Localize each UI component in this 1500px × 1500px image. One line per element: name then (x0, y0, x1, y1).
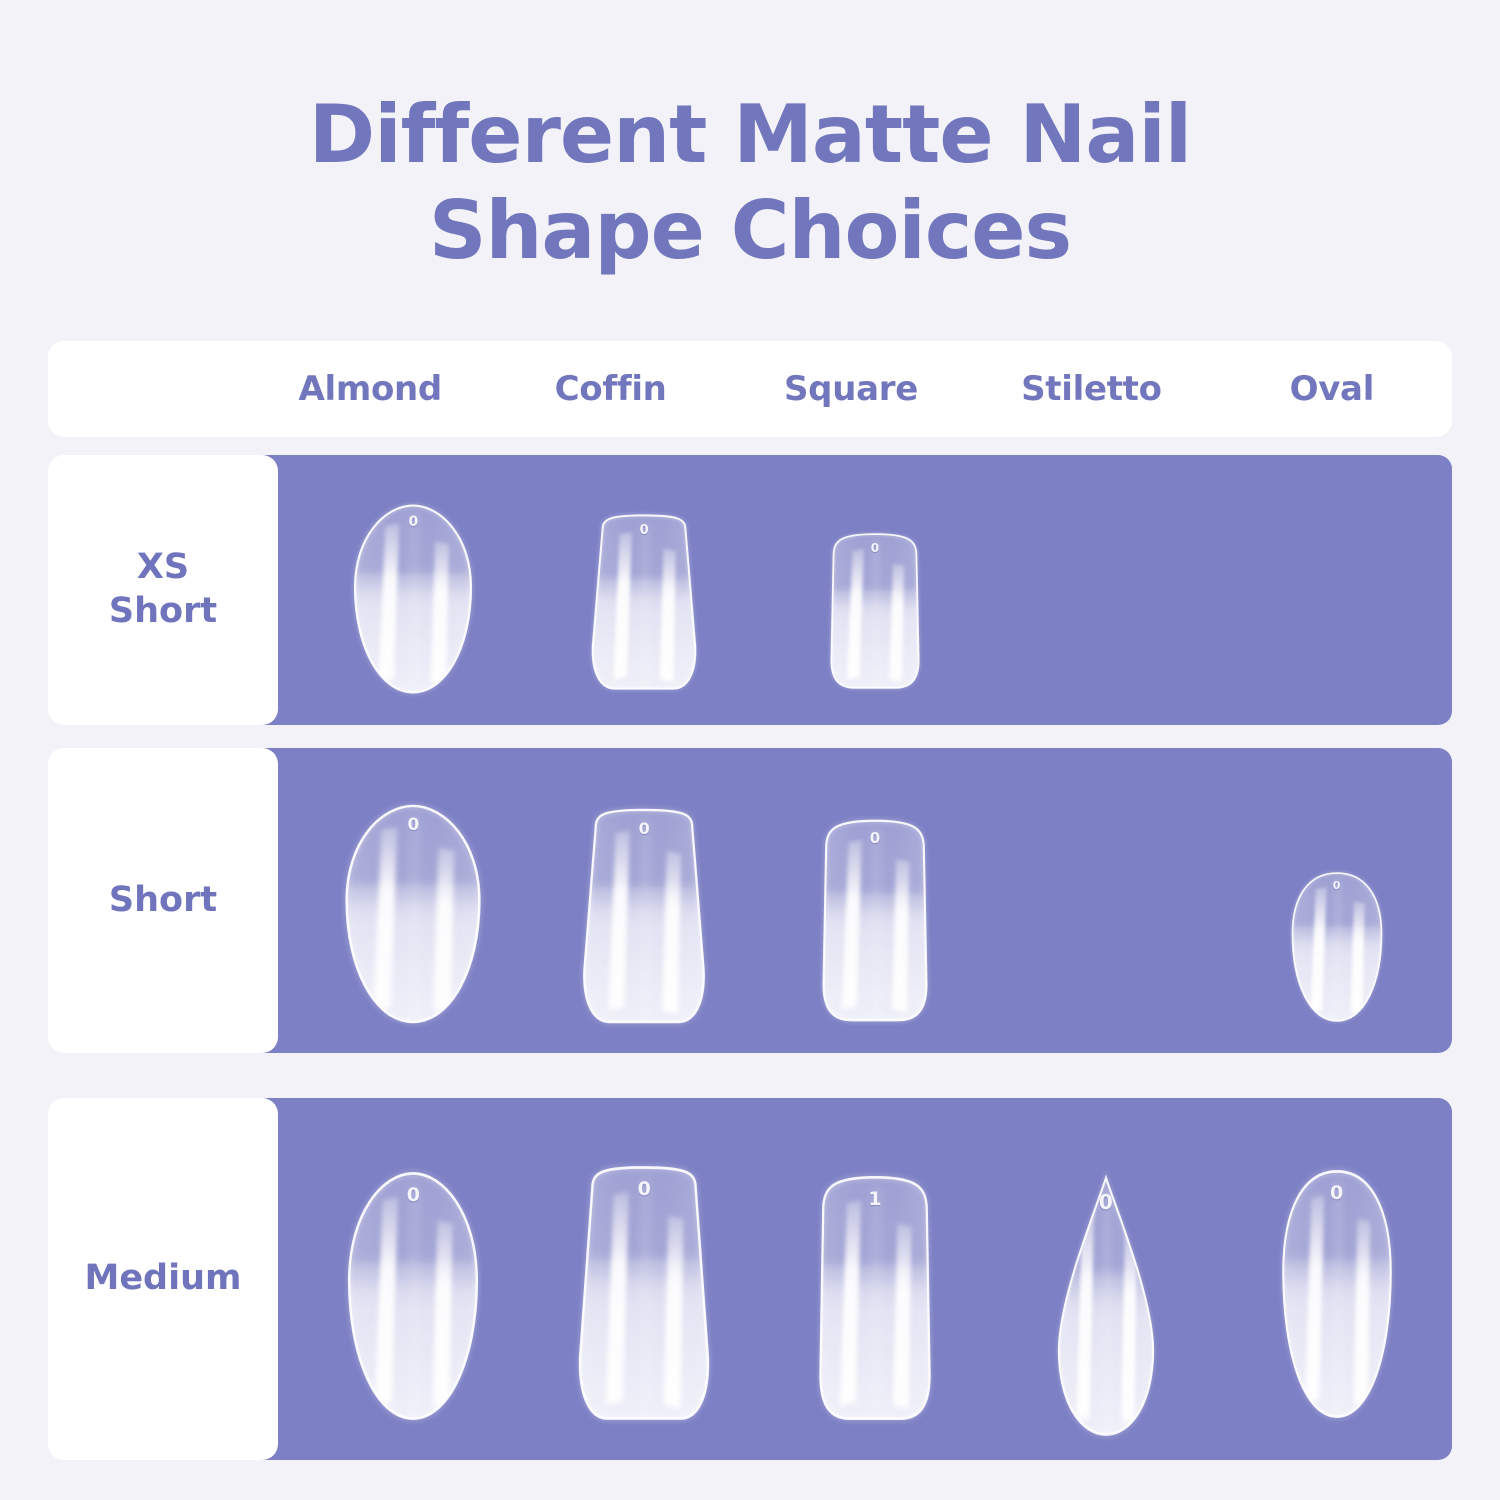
nail-tip-coffin[interactable]: 0 (573, 807, 715, 1025)
cell-short-oval[interactable]: 0 (1221, 748, 1452, 1053)
row-label-text: Medium (84, 1257, 241, 1301)
cell-short-coffin[interactable]: 0 (529, 748, 760, 1053)
cell-xs-short-almond[interactable]: 0 (298, 455, 529, 725)
nail-tip-square[interactable]: 1 (805, 1174, 945, 1422)
row-label-card-short: Short (48, 748, 278, 1053)
cell-xs-short-stiletto[interactable] (990, 455, 1221, 725)
cell-short-square[interactable]: 0 (760, 748, 991, 1053)
column-header-almond: Almond (250, 369, 490, 409)
column-header-coffin: Coffin (490, 369, 730, 409)
row-label-card-medium: Medium (48, 1098, 278, 1460)
cell-xs-short-square[interactable]: 0 (760, 455, 991, 725)
column-header-oval: Oval (1212, 369, 1452, 409)
column-header-card: AlmondCoffinSquareStilettoOval (48, 341, 1452, 437)
cell-medium-square[interactable]: 1 (760, 1098, 991, 1460)
nail-tip-coffin[interactable]: 0 (583, 513, 705, 691)
nail-tip-almond[interactable]: 0 (337, 1170, 489, 1422)
cell-medium-coffin[interactable]: 0 (529, 1098, 760, 1460)
row-swatch-panel: 00100 (250, 1098, 1452, 1460)
row-label-text: XS Short (109, 546, 217, 634)
column-header-stiletto: Stiletto (971, 369, 1211, 409)
cell-xs-short-oval[interactable] (1221, 455, 1452, 725)
row-swatch-panel: 000 (250, 455, 1452, 725)
column-header-list: AlmondCoffinSquareStilettoOval (250, 341, 1452, 437)
row-cells: 0000 (298, 748, 1452, 1053)
nail-tip-stiletto[interactable]: 0 (1047, 1176, 1165, 1438)
nail-tip-square[interactable]: 0 (819, 532, 931, 690)
cell-medium-stiletto[interactable]: 0 (990, 1098, 1221, 1460)
row-label-card-xs-short: XS Short (48, 455, 278, 725)
nail-tip-oval[interactable]: 0 (1284, 871, 1390, 1023)
size-row: Short0000 (48, 748, 1452, 1053)
title-line-2: Shape Choices (0, 191, 1500, 271)
nail-tip-oval[interactable]: 0 (1273, 1168, 1401, 1420)
nail-tip-square[interactable]: 0 (809, 818, 941, 1023)
cell-medium-oval[interactable]: 0 (1221, 1098, 1452, 1460)
size-row: Medium00100 (48, 1098, 1452, 1460)
title-line-1: Different Matte Nail (0, 95, 1500, 175)
row-swatch-panel: 0000 (250, 748, 1452, 1053)
cell-short-almond[interactable]: 0 (298, 748, 529, 1053)
size-row: XS Short000 (48, 455, 1452, 725)
row-cells: 000 (298, 455, 1452, 725)
row-cells: 00100 (298, 1098, 1452, 1460)
column-header-square: Square (731, 369, 971, 409)
nail-tip-almond[interactable]: 0 (344, 503, 482, 695)
cell-medium-almond[interactable]: 0 (298, 1098, 529, 1460)
nail-tip-coffin[interactable]: 0 (568, 1164, 720, 1422)
row-label-text: Short (109, 879, 217, 923)
infographic-page: Different Matte Nail Shape Choices Almon… (0, 0, 1500, 1500)
cell-short-stiletto[interactable] (990, 748, 1221, 1053)
nail-tip-almond[interactable]: 0 (334, 803, 492, 1025)
cell-xs-short-coffin[interactable]: 0 (529, 455, 760, 725)
page-title: Different Matte Nail Shape Choices (0, 95, 1500, 271)
